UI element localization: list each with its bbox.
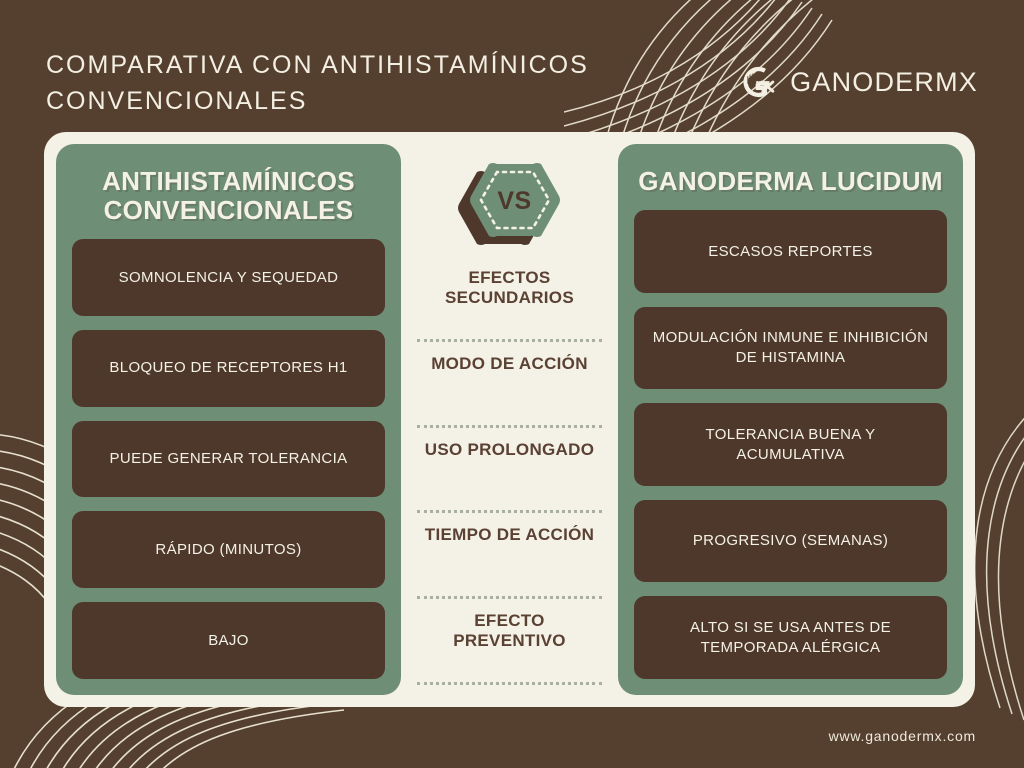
- list-item: EFECTO PREVENTIVO: [417, 607, 602, 693]
- table-row: PROGRESIVO (SEMANAS): [634, 500, 947, 583]
- criteria-label: MODO DE ACCIÓN: [431, 350, 588, 374]
- table-row: ALTO SI SE USA ANTES DE TEMPORADA ALÉRGI…: [634, 596, 947, 679]
- dotted-divider: [417, 596, 602, 599]
- table-row: RÁPIDO (MINUTOS): [72, 511, 385, 588]
- vs-label: VS: [456, 147, 574, 255]
- vs-badge: VS: [451, 150, 569, 258]
- brand-logo: GANODERMX: [737, 62, 978, 102]
- list-item: TIEMPO DE ACCIÓN: [417, 521, 602, 607]
- dotted-divider: [417, 339, 602, 342]
- criteria-label: EFECTO PREVENTIVO: [417, 607, 602, 651]
- table-row: PUEDE GENERAR TOLERANCIA: [72, 421, 385, 498]
- dotted-divider: [417, 425, 602, 428]
- table-row: TOLERANCIA BUENA Y ACUMULATIVA: [634, 403, 947, 486]
- page-header: COMPARATIVA CON ANTIHISTAMÍNICOS CONVENC…: [0, 0, 1024, 132]
- list-item: EFECTOS SECUNDARIOS: [417, 264, 602, 350]
- left-column-panel: ANTIHISTAMÍNICOS CONVENCIONALES SOMNOLEN…: [56, 144, 401, 695]
- right-column-rows: ESCASOS REPORTES MODULACIÓN INMUNE E INH…: [634, 210, 947, 679]
- table-row: MODULACIÓN INMUNE E INHIBICIÓN DE HISTAM…: [634, 307, 947, 390]
- left-column-rows: SOMNOLENCIA Y SEQUEDAD BLOQUEO DE RECEPT…: [72, 239, 385, 679]
- table-row: BLOQUEO DE RECEPTORES H1: [72, 330, 385, 407]
- criteria-label-list: EFECTOS SECUNDARIOS MODO DE ACCIÓN USO P…: [417, 264, 602, 695]
- center-criteria-column: VS EFECTOS SECUNDARIOS MODO DE ACCIÓN US…: [401, 144, 618, 695]
- footer-website-url: www.ganodermx.com: [829, 728, 976, 744]
- right-column-panel: GANODERMA LUCIDUM ESCASOS REPORTES MODUL…: [618, 144, 963, 695]
- dotted-divider: [417, 510, 602, 513]
- brand-name: GANODERMX: [790, 67, 978, 98]
- page-title: COMPARATIVA CON ANTIHISTAMÍNICOS CONVENC…: [46, 48, 646, 119]
- criteria-label: EFECTOS SECUNDARIOS: [417, 264, 602, 308]
- dotted-divider: [417, 682, 602, 685]
- comparison-card: ANTIHISTAMÍNICOS CONVENCIONALES SOMNOLEN…: [44, 132, 975, 707]
- criteria-label: USO PROLONGADO: [425, 436, 595, 460]
- list-item: USO PROLONGADO: [417, 436, 602, 522]
- table-row: BAJO: [72, 602, 385, 679]
- list-item: MODO DE ACCIÓN: [417, 350, 602, 436]
- table-row: SOMNOLENCIA Y SEQUEDAD: [72, 239, 385, 316]
- criteria-label: TIEMPO DE ACCIÓN: [425, 521, 594, 545]
- ganoderma-g-icon: [737, 62, 777, 102]
- right-column-title: GANODERMA LUCIDUM: [638, 167, 943, 196]
- left-column-title: ANTIHISTAMÍNICOS CONVENCIONALES: [72, 167, 385, 225]
- table-row: ESCASOS REPORTES: [634, 210, 947, 293]
